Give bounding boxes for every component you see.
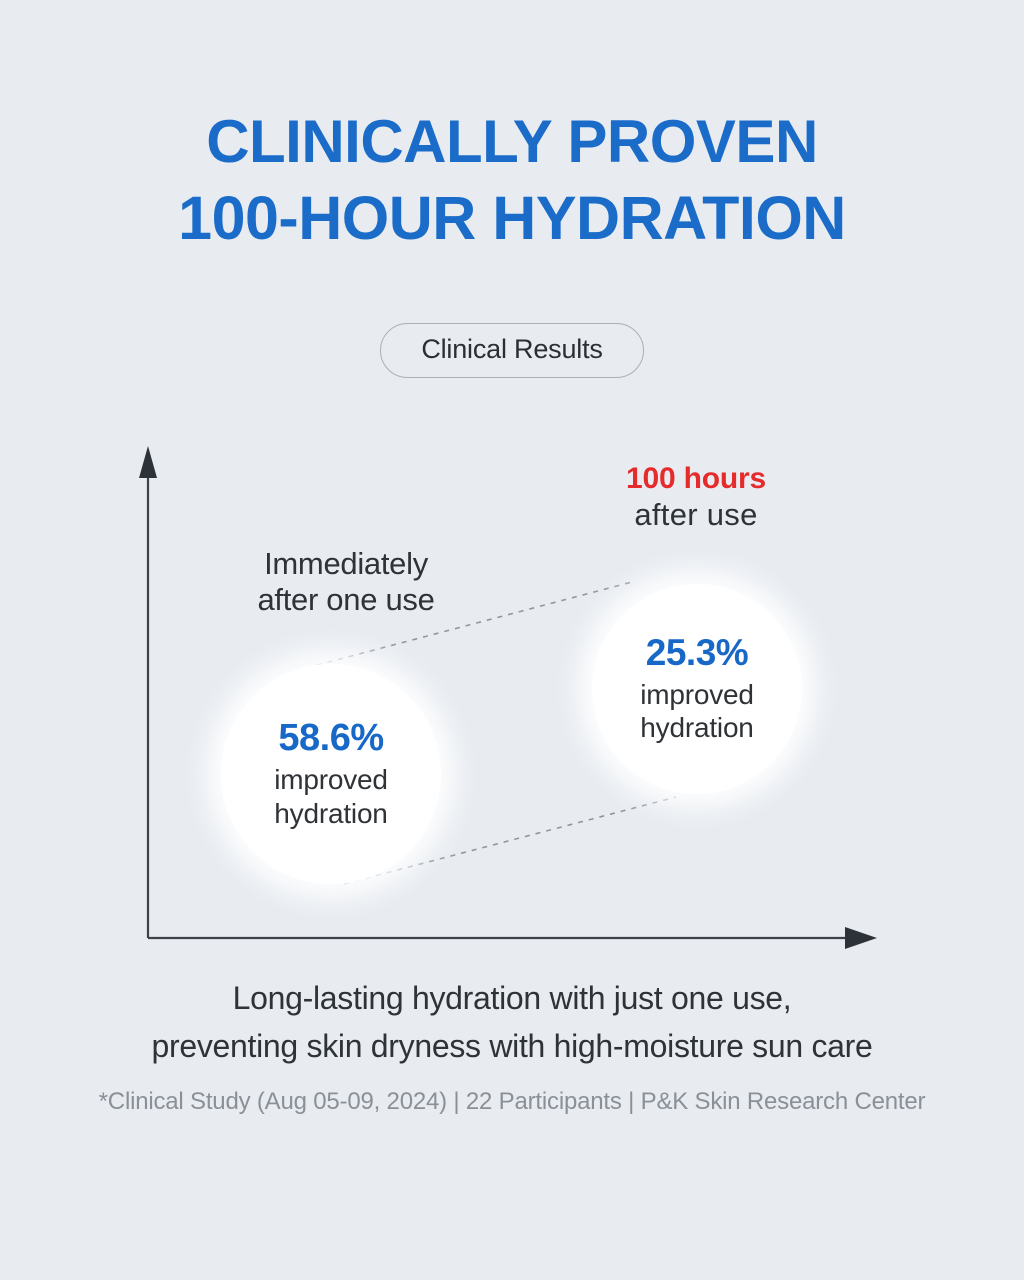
chart-caption: Long-lasting hydration with just one use… [0, 974, 1024, 1070]
chart-label-hundred-hours-value: 100 hours [566, 462, 826, 497]
chart-label-immediate-line-2: after one use [196, 582, 496, 618]
data-bubble-immediate-caption: improved hydration [274, 763, 388, 830]
chart-label-immediate-line-1: Immediately [196, 546, 496, 582]
data-bubble-hundred-hours-caption-line-1: improved [640, 679, 754, 710]
chart-label-hundred-hours-sub: after use [566, 497, 826, 533]
data-bubble-immediate-percent: 58.6% [278, 718, 383, 760]
clinical-results-badge-wrap: Clinical Results [0, 323, 1024, 378]
chart-label-immediate: Immediately after one use [196, 546, 496, 618]
chart-caption-line-2: preventing skin dryness with high-moistu… [0, 1022, 1024, 1070]
clinical-results-infographic: CLINICALLY PROVEN 100-HOUR HYDRATION Cli… [0, 0, 1024, 1280]
chart-label-hundred-hours: 100 hours after use [566, 462, 826, 533]
page-title-line-1: CLINICALLY PROVEN [0, 104, 1024, 180]
page-title: CLINICALLY PROVEN 100-HOUR HYDRATION [0, 104, 1024, 256]
data-bubble-immediate-caption-line-2: hydration [274, 798, 387, 829]
arrow-up-icon [139, 446, 157, 478]
data-bubble-immediate-caption-line-1: improved [274, 764, 388, 795]
page-title-line-2: 100-HOUR HYDRATION [0, 180, 1024, 256]
arrow-right-icon [845, 927, 877, 949]
data-bubble-hundred-hours: 25.3% improved hydration [592, 584, 802, 794]
chart-caption-line-1: Long-lasting hydration with just one use… [0, 974, 1024, 1022]
data-bubble-immediate: 58.6% improved hydration [221, 664, 441, 884]
clinical-results-badge: Clinical Results [380, 323, 643, 378]
data-bubble-hundred-hours-caption-line-2: hydration [640, 712, 753, 743]
study-footnote: *Clinical Study (Aug 05-09, 2024) | 22 P… [0, 1088, 1024, 1116]
data-bubble-hundred-hours-caption: improved hydration [640, 678, 754, 745]
data-bubble-hundred-hours-percent: 25.3% [646, 633, 748, 674]
